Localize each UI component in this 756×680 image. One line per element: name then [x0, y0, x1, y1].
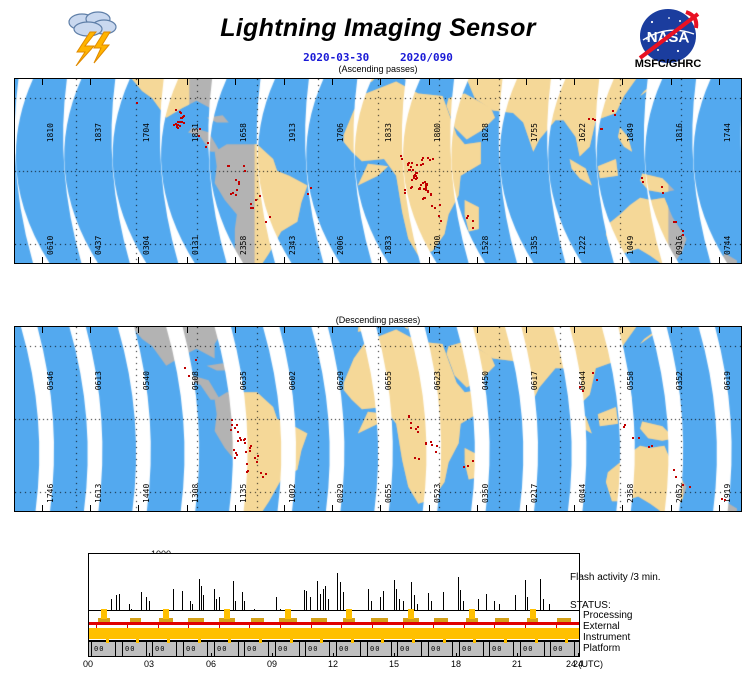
orbit-time-label: 0629 [336, 371, 345, 390]
orbit-time-label: 1849 [626, 123, 635, 142]
orbit-tick [526, 257, 527, 263]
orbit-tick [429, 505, 430, 511]
flash-activity-bar [543, 599, 544, 610]
flash-activity-bar [325, 586, 326, 610]
flash-marker [307, 193, 309, 195]
flash-marker [195, 359, 197, 361]
orbit-tick [235, 79, 236, 85]
orbit-time-label: 1222 [578, 236, 587, 255]
orbit-tick [477, 327, 478, 333]
flash-activity-bar [320, 594, 321, 610]
orbit-marker [473, 637, 476, 643]
orbit-tick [719, 327, 720, 333]
flash-marker [407, 164, 409, 166]
flash-marker [234, 457, 236, 459]
orbit-tick [42, 79, 43, 85]
orbit-segment[interactable]: 00 [520, 642, 545, 656]
descending-caption: (Descending passes) [0, 315, 756, 325]
flash-marker [245, 451, 247, 453]
flash-activity-bar [417, 604, 418, 610]
flash-marker [249, 450, 251, 452]
orbit-strip[interactable]: 00000000000000000000000000000000 [88, 641, 580, 657]
orbit-time-label: 1002 [288, 484, 297, 503]
flash-marker [682, 230, 684, 232]
flash-marker [199, 128, 201, 130]
flash-marker [177, 121, 179, 123]
flash-marker [198, 135, 200, 137]
flash-marker [205, 146, 207, 148]
orbit-tick [477, 79, 478, 85]
flash-marker [230, 193, 232, 195]
orbit-tick [332, 327, 333, 333]
flash-activity-bar [527, 597, 528, 610]
orbit-tick [574, 505, 575, 511]
flash-marker [416, 172, 418, 174]
flash-marker [243, 439, 245, 441]
flash-activity-bar [337, 573, 338, 610]
orbit-time-label: 2052 [675, 484, 684, 503]
flash-marker [412, 169, 414, 171]
flash-marker [673, 221, 675, 223]
flash-marker [232, 192, 234, 194]
flash-activity-bar [399, 599, 400, 610]
flash-marker [601, 128, 603, 130]
flash-marker [237, 431, 239, 433]
status-external-spike [346, 609, 352, 619]
orbit-segment[interactable]: 00 [459, 642, 484, 656]
orbit-time-label: 0437 [94, 236, 103, 255]
flash-marker [400, 155, 402, 157]
flash-marker [249, 447, 251, 449]
flash-marker [404, 189, 406, 191]
orbit-tick [284, 79, 285, 85]
x-tick [211, 653, 212, 657]
flash-marker [592, 372, 594, 374]
flash-marker [430, 441, 432, 443]
flash-marker [417, 426, 419, 428]
orbit-time-label: 0304 [142, 236, 151, 255]
x-tick [272, 653, 273, 657]
flash-activity-bar [458, 577, 459, 610]
x-tick-label: 09 [267, 659, 277, 669]
orbit-time-label: 1049 [626, 236, 635, 255]
legend-status-external: External [583, 621, 620, 632]
flash-marker [642, 181, 644, 183]
flash-marker [432, 158, 434, 160]
orbit-tick [477, 257, 478, 263]
flash-marker [440, 220, 442, 222]
descending-passes-map[interactable]: 0546061305400508063506020629065506230450… [14, 326, 742, 512]
flash-marker [673, 469, 675, 471]
flash-marker [624, 424, 626, 426]
orbit-time-label: 0350 [481, 484, 490, 503]
flash-marker [236, 454, 238, 456]
flash-activity-bar [380, 597, 381, 610]
orbit-marker [228, 637, 231, 643]
orbit-tick [42, 257, 43, 263]
flash-activity-plot[interactable] [88, 553, 580, 611]
status-external-spike [408, 609, 414, 619]
orbit-segment[interactable]: 00 [489, 642, 514, 656]
orbit-tick [235, 257, 236, 263]
flash-marker [431, 444, 433, 446]
orbit-segment[interactable]: 00 [428, 642, 453, 656]
flash-marker [438, 215, 440, 217]
flash-marker [188, 375, 190, 377]
orbit-marker [412, 637, 415, 643]
x-tick-label: 12 [328, 659, 338, 669]
flash-marker [265, 221, 267, 223]
flash-marker [632, 437, 634, 439]
orbit-tick [380, 79, 381, 85]
orbit-time-label: 1706 [336, 123, 345, 142]
flash-marker [240, 439, 242, 441]
orbit-time-label: 0610 [46, 236, 55, 255]
flash-marker [238, 181, 240, 183]
flash-marker [231, 424, 233, 426]
orbit-time-label: 1658 [239, 123, 248, 142]
flash-activity-bar [383, 591, 384, 610]
flash-activity-bar [190, 601, 191, 610]
x-tick [149, 653, 150, 657]
flash-activity-bar [306, 591, 307, 610]
flash-marker [182, 116, 184, 118]
orbit-tick [138, 327, 139, 333]
orbit-tick [622, 257, 623, 263]
orbit-tick [380, 327, 381, 333]
x-tick-label: 00 [83, 659, 93, 669]
orbit-marker [106, 637, 109, 643]
status-external-spike [285, 609, 291, 619]
flash-marker [269, 216, 271, 218]
flash-marker [594, 119, 596, 121]
orbit-tick [526, 327, 527, 333]
flash-marker [410, 187, 412, 189]
flash-marker [422, 182, 424, 184]
ascending-passes-map[interactable]: 1810183717041831165819131706183318001828… [14, 78, 742, 264]
orbit-time-label: 0540 [142, 371, 151, 390]
flash-marker [237, 440, 239, 442]
flash-marker [404, 192, 406, 194]
flash-marker [425, 443, 427, 445]
flash-marker [230, 429, 232, 431]
orbit-tick [574, 327, 575, 333]
x-tick [333, 653, 334, 657]
orbit-segment[interactable]: 00 [91, 642, 116, 656]
orbit-marker [290, 637, 293, 643]
legend-status-platform: Platform [583, 643, 620, 654]
status-external-spike [101, 609, 107, 619]
flash-activity-bar [494, 601, 495, 610]
flash-marker [231, 419, 233, 421]
orbit-time-label: 0635 [239, 371, 248, 390]
orbit-time-label: 2358 [239, 236, 248, 255]
flash-activity-bar [486, 594, 487, 610]
flash-marker [239, 437, 241, 439]
orbit-tick [671, 327, 672, 333]
flash-marker [233, 449, 235, 451]
flash-marker [472, 227, 474, 229]
flash-marker [419, 187, 421, 189]
orbit-tick [284, 257, 285, 263]
x-axis: 000306091215182124 [88, 657, 580, 671]
flash-activity-bar [244, 601, 245, 610]
orbit-time-label: 0508 [191, 371, 200, 390]
flash-marker [422, 163, 424, 165]
flash-marker [254, 457, 256, 459]
legend-status-instrument: Instrument [583, 632, 630, 643]
orbit-tick [671, 257, 672, 263]
orbit-time-label: 1810 [46, 123, 55, 142]
orbit-tick [719, 257, 720, 263]
flash-activity-bar [460, 590, 461, 610]
flash-activity-bar [431, 601, 432, 610]
flash-activity-bar [149, 601, 150, 610]
flash-activity-bar [276, 597, 277, 610]
orbit-time-label: 0217 [530, 484, 539, 503]
orbit-time-label: 0744 [723, 236, 732, 255]
orbit-tick [574, 257, 575, 263]
orbit-segment[interactable]: 00 [183, 642, 208, 656]
flash-marker [579, 386, 581, 388]
x-tick [578, 653, 579, 657]
flash-activity-bar [394, 580, 395, 610]
orbit-tick [284, 327, 285, 333]
flash-activity-bar [403, 601, 404, 610]
flash-marker [661, 186, 663, 188]
flash-marker [236, 424, 238, 426]
flash-marker [651, 445, 653, 447]
orbit-segment[interactable]: 00 [550, 642, 575, 656]
x-tick-label: 15 [389, 659, 399, 669]
orbit-time-label: 1755 [530, 123, 539, 142]
flash-activity-bar [201, 586, 202, 610]
orbit-tick [622, 505, 623, 511]
flash-marker [246, 463, 248, 465]
flash-activity-bar [242, 592, 243, 610]
flash-marker [413, 175, 415, 177]
x-tick [394, 653, 395, 657]
flash-marker [435, 451, 437, 453]
flash-marker [256, 461, 258, 463]
flash-activity-bar [540, 579, 541, 610]
lis-daily-summary-page: Lightning Imaging Sensor 2020-03-30 2020… [0, 0, 756, 680]
flash-activity-bar [328, 599, 329, 610]
orbit-time-label: 0044 [578, 484, 587, 503]
flash-marker [310, 187, 312, 189]
status-external-spike [530, 609, 536, 619]
flash-activity-bar [443, 592, 444, 610]
orbit-time-label: 0655 [384, 484, 393, 503]
orbit-tick [42, 505, 43, 511]
day-of-year: 2020/090 [400, 51, 453, 64]
flash-marker [207, 142, 209, 144]
ascending-map-overlay: 1810183717041831165819131706183318001828… [15, 79, 741, 263]
orbit-time-label: 0829 [336, 484, 345, 503]
orbit-time-label: 1135 [239, 484, 248, 503]
orbit-time-label: 1700 [433, 236, 442, 255]
flash-marker [180, 112, 182, 114]
orbit-tick [671, 505, 672, 511]
orbit-segment[interactable]: 00 [152, 642, 177, 656]
flash-activity-bar [146, 597, 147, 610]
orbit-time-label: 0655 [384, 371, 393, 390]
flash-marker [418, 458, 420, 460]
orbit-segment[interactable]: 00 [214, 642, 239, 656]
legend-flash-activity: Flash activity /3 min. [570, 572, 661, 583]
flash-marker [410, 422, 412, 424]
orbit-tick [380, 505, 381, 511]
flash-marker [420, 184, 422, 186]
orbit-segment[interactable]: 00 [367, 642, 392, 656]
flash-marker [411, 162, 413, 164]
flash-marker [235, 194, 237, 196]
flash-marker [588, 118, 590, 120]
flash-marker [236, 189, 238, 191]
orbit-time-label: 1913 [288, 123, 297, 142]
orbit-tick [671, 79, 672, 85]
orbit-time-label: 1816 [675, 123, 684, 142]
flash-marker [429, 159, 431, 161]
orbit-tick [622, 79, 623, 85]
x-tick-label: 21 [512, 659, 522, 669]
flash-activity-bar [119, 594, 120, 610]
flash-marker [431, 205, 433, 207]
orbit-segment[interactable]: 00 [397, 642, 422, 656]
legend-status-processing: Processing [583, 610, 632, 621]
observation-date: 2020-03-30 [303, 51, 369, 64]
flash-marker [662, 192, 664, 194]
flash-activity-bar [478, 599, 479, 610]
flash-marker [238, 183, 240, 185]
flash-marker [427, 157, 429, 159]
orbit-tick [477, 505, 478, 511]
orbit-marker [167, 637, 170, 643]
orbit-tick [332, 505, 333, 511]
orbit-time-label: 0131 [191, 236, 200, 255]
flash-marker [184, 367, 186, 369]
orbit-segment[interactable]: 00 [244, 642, 269, 656]
flash-marker [246, 471, 248, 473]
flash-marker [424, 197, 426, 199]
orbit-time-label: 0546 [46, 371, 55, 390]
flash-marker [425, 185, 427, 187]
flash-marker [235, 179, 237, 181]
orbit-tick [332, 79, 333, 85]
flash-activity-bar [111, 599, 112, 610]
flash-activity-bar [192, 604, 193, 610]
flash-marker [416, 164, 418, 166]
flash-activity-bar [371, 601, 372, 610]
flash-activity-bar [343, 592, 344, 610]
flash-marker [183, 122, 185, 124]
orbit-segment[interactable]: 00 [336, 642, 361, 656]
orbit-segment[interactable]: 00 [275, 642, 300, 656]
flash-marker [415, 428, 417, 430]
orbit-tick [187, 79, 188, 85]
flash-marker [612, 110, 614, 112]
flash-activity-bar [499, 604, 500, 610]
flash-marker [472, 220, 474, 222]
orbit-tick [429, 327, 430, 333]
orbit-time-label: 1308 [191, 484, 200, 503]
orbit-time-label: 1528 [481, 236, 490, 255]
orbit-marker [535, 637, 538, 643]
flash-marker [265, 473, 267, 475]
orbit-time-label: 1831 [191, 123, 200, 142]
orbit-time-label: 2343 [288, 236, 297, 255]
orbit-time-label: 1837 [94, 123, 103, 142]
flash-activity-bar [219, 597, 220, 610]
orbit-time-label: 1746 [46, 484, 55, 503]
flash-activity-bar [525, 580, 526, 610]
flash-activity-bar [411, 582, 412, 610]
x-tick-label: 03 [144, 659, 154, 669]
flash-marker [467, 215, 469, 217]
flash-marker [596, 379, 598, 381]
x-axis-unit-label: 24 (UTC) [566, 659, 603, 669]
flash-marker [175, 109, 177, 111]
flash-marker [675, 221, 677, 223]
orbit-marker [504, 637, 507, 643]
orbit-time-label: 2358 [626, 484, 635, 503]
flash-marker [228, 165, 230, 167]
flash-marker [421, 159, 423, 161]
orbit-tick [138, 505, 139, 511]
flash-activity-bar [340, 582, 341, 610]
orbit-marker [198, 637, 201, 643]
flash-activity-bar [280, 609, 281, 610]
orbit-marker [320, 637, 323, 643]
flash-activity-bar [199, 579, 200, 610]
flash-marker [255, 199, 257, 201]
status-external-spike [163, 609, 169, 619]
flash-marker [176, 125, 178, 127]
flash-marker [243, 165, 245, 167]
flash-marker [425, 183, 427, 185]
orbit-time-label: 0613 [94, 371, 103, 390]
flash-marker [689, 486, 691, 488]
orbit-tick [719, 505, 720, 511]
orbit-marker [381, 637, 384, 643]
flash-marker [417, 431, 419, 433]
orbit-tick [90, 257, 91, 263]
flash-marker [614, 114, 616, 116]
flash-marker [257, 455, 259, 457]
flash-activity-bar [310, 597, 311, 610]
nasa-center-label: MSFC/GHRC [616, 58, 720, 70]
orbit-tick [622, 327, 623, 333]
flash-marker [179, 125, 181, 127]
orbit-tick [429, 79, 430, 85]
flash-marker [252, 207, 254, 209]
flash-activity-bar [368, 589, 369, 610]
flash-activity-bar [182, 591, 183, 610]
flash-marker [648, 446, 650, 448]
flash-marker [721, 498, 723, 500]
descending-map-overlay: 0546061305400508063506020629065506230450… [15, 327, 741, 511]
orbit-tick [187, 505, 188, 511]
flash-marker [638, 437, 640, 439]
orbit-marker [351, 637, 354, 643]
flash-activity-bar [323, 589, 324, 610]
orbit-tick [380, 257, 381, 263]
orbit-tick [90, 505, 91, 511]
flash-activity-bar [304, 590, 305, 610]
orbit-segment[interactable]: 00 [305, 642, 330, 656]
orbit-segment[interactable]: 00 [122, 642, 147, 656]
flash-marker [439, 204, 441, 206]
